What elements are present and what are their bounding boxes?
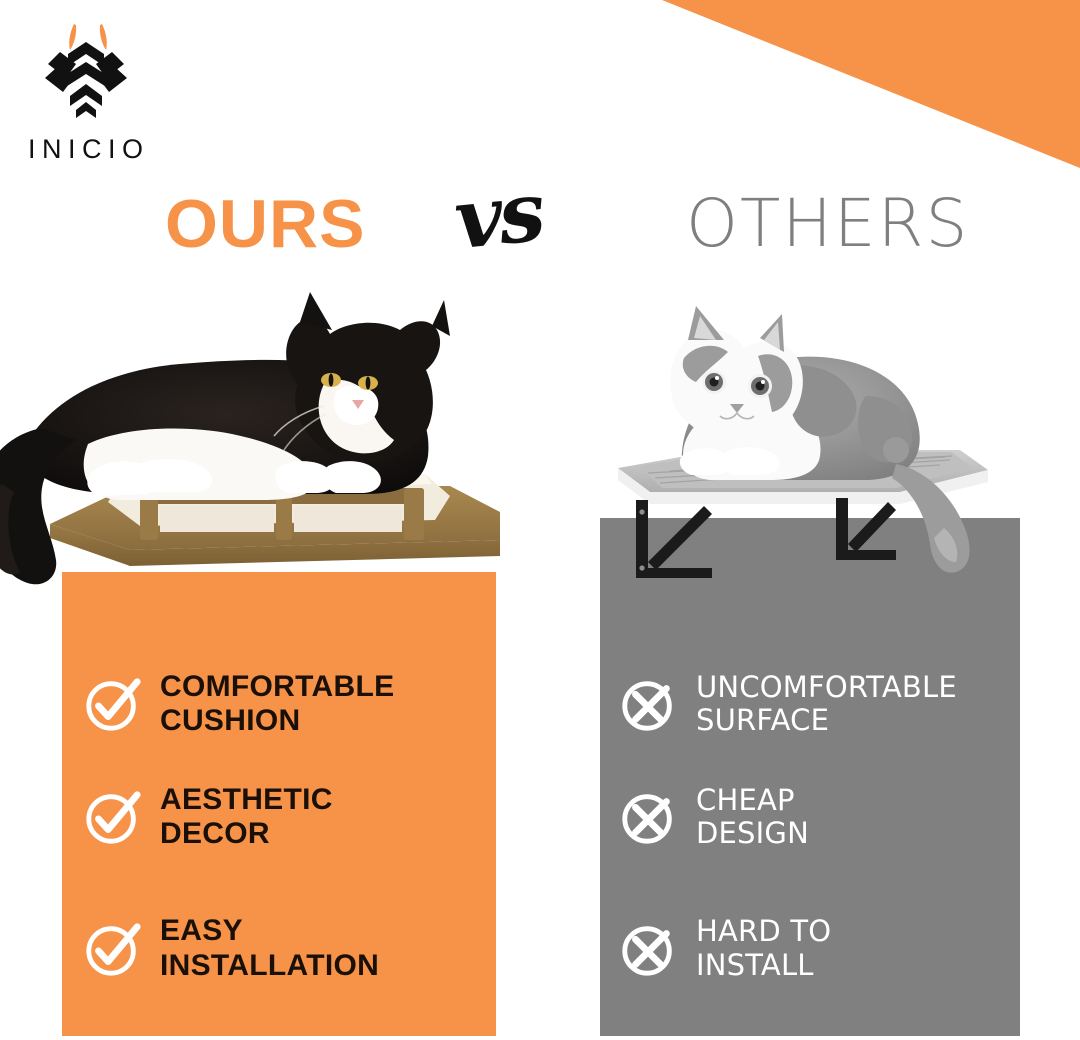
brand-logo: INICIO [28, 22, 178, 165]
feature-label: AESTHETIC DECOR [160, 783, 333, 851]
x-circle-icon [618, 786, 680, 848]
ours-product-photo [0, 288, 540, 598]
feature-row: COMFORTABLE CUSHION [62, 650, 496, 758]
feature-label: UNCOMFORTABLE SURFACE [696, 671, 957, 737]
feature-label: CHEAP DESIGN [696, 784, 809, 850]
check-circle-icon [82, 786, 144, 848]
headline-vs: vs [450, 162, 546, 270]
headline-others: OTHERS [686, 180, 969, 268]
x-circle-icon [618, 673, 680, 735]
feature-label: EASY INSTALLATION [160, 914, 379, 982]
others-product-photo [600, 300, 1000, 600]
headline-ours: OURS [165, 180, 365, 268]
tuxedo-cat-on-wooden-shelf-illustration [0, 288, 540, 598]
brand-name: INICIO [28, 134, 178, 165]
feature-label: HARD TO INSTALL [696, 915, 831, 981]
feature-row: EASY INSTALLATION [62, 876, 496, 1021]
check-circle-icon [82, 673, 144, 735]
grey-cat-on-bracket-shelf-illustration [600, 300, 1000, 600]
feature-row: CHEAP DESIGN [600, 768, 1020, 866]
check-circle-icon [82, 918, 144, 980]
bee-chevron-logo-icon [30, 22, 142, 130]
others-feature-list: UNCOMFORTABLE SURFACE CHEAP DESIGN H [600, 650, 1020, 1021]
comparison-infographic: INICIO OURS vs OTHERS [0, 0, 1080, 1040]
feature-row: HARD TO INSTALL [600, 876, 1020, 1021]
feature-row: AESTHETIC DECOR [62, 768, 496, 866]
x-circle-icon [618, 918, 680, 980]
ours-feature-list: COMFORTABLE CUSHION AESTHETIC DECOR EASY… [62, 650, 496, 1021]
feature-row: UNCOMFORTABLE SURFACE [600, 650, 1020, 758]
headline: OURS vs OTHERS [0, 178, 1080, 278]
feature-label: COMFORTABLE CUSHION [160, 670, 394, 738]
